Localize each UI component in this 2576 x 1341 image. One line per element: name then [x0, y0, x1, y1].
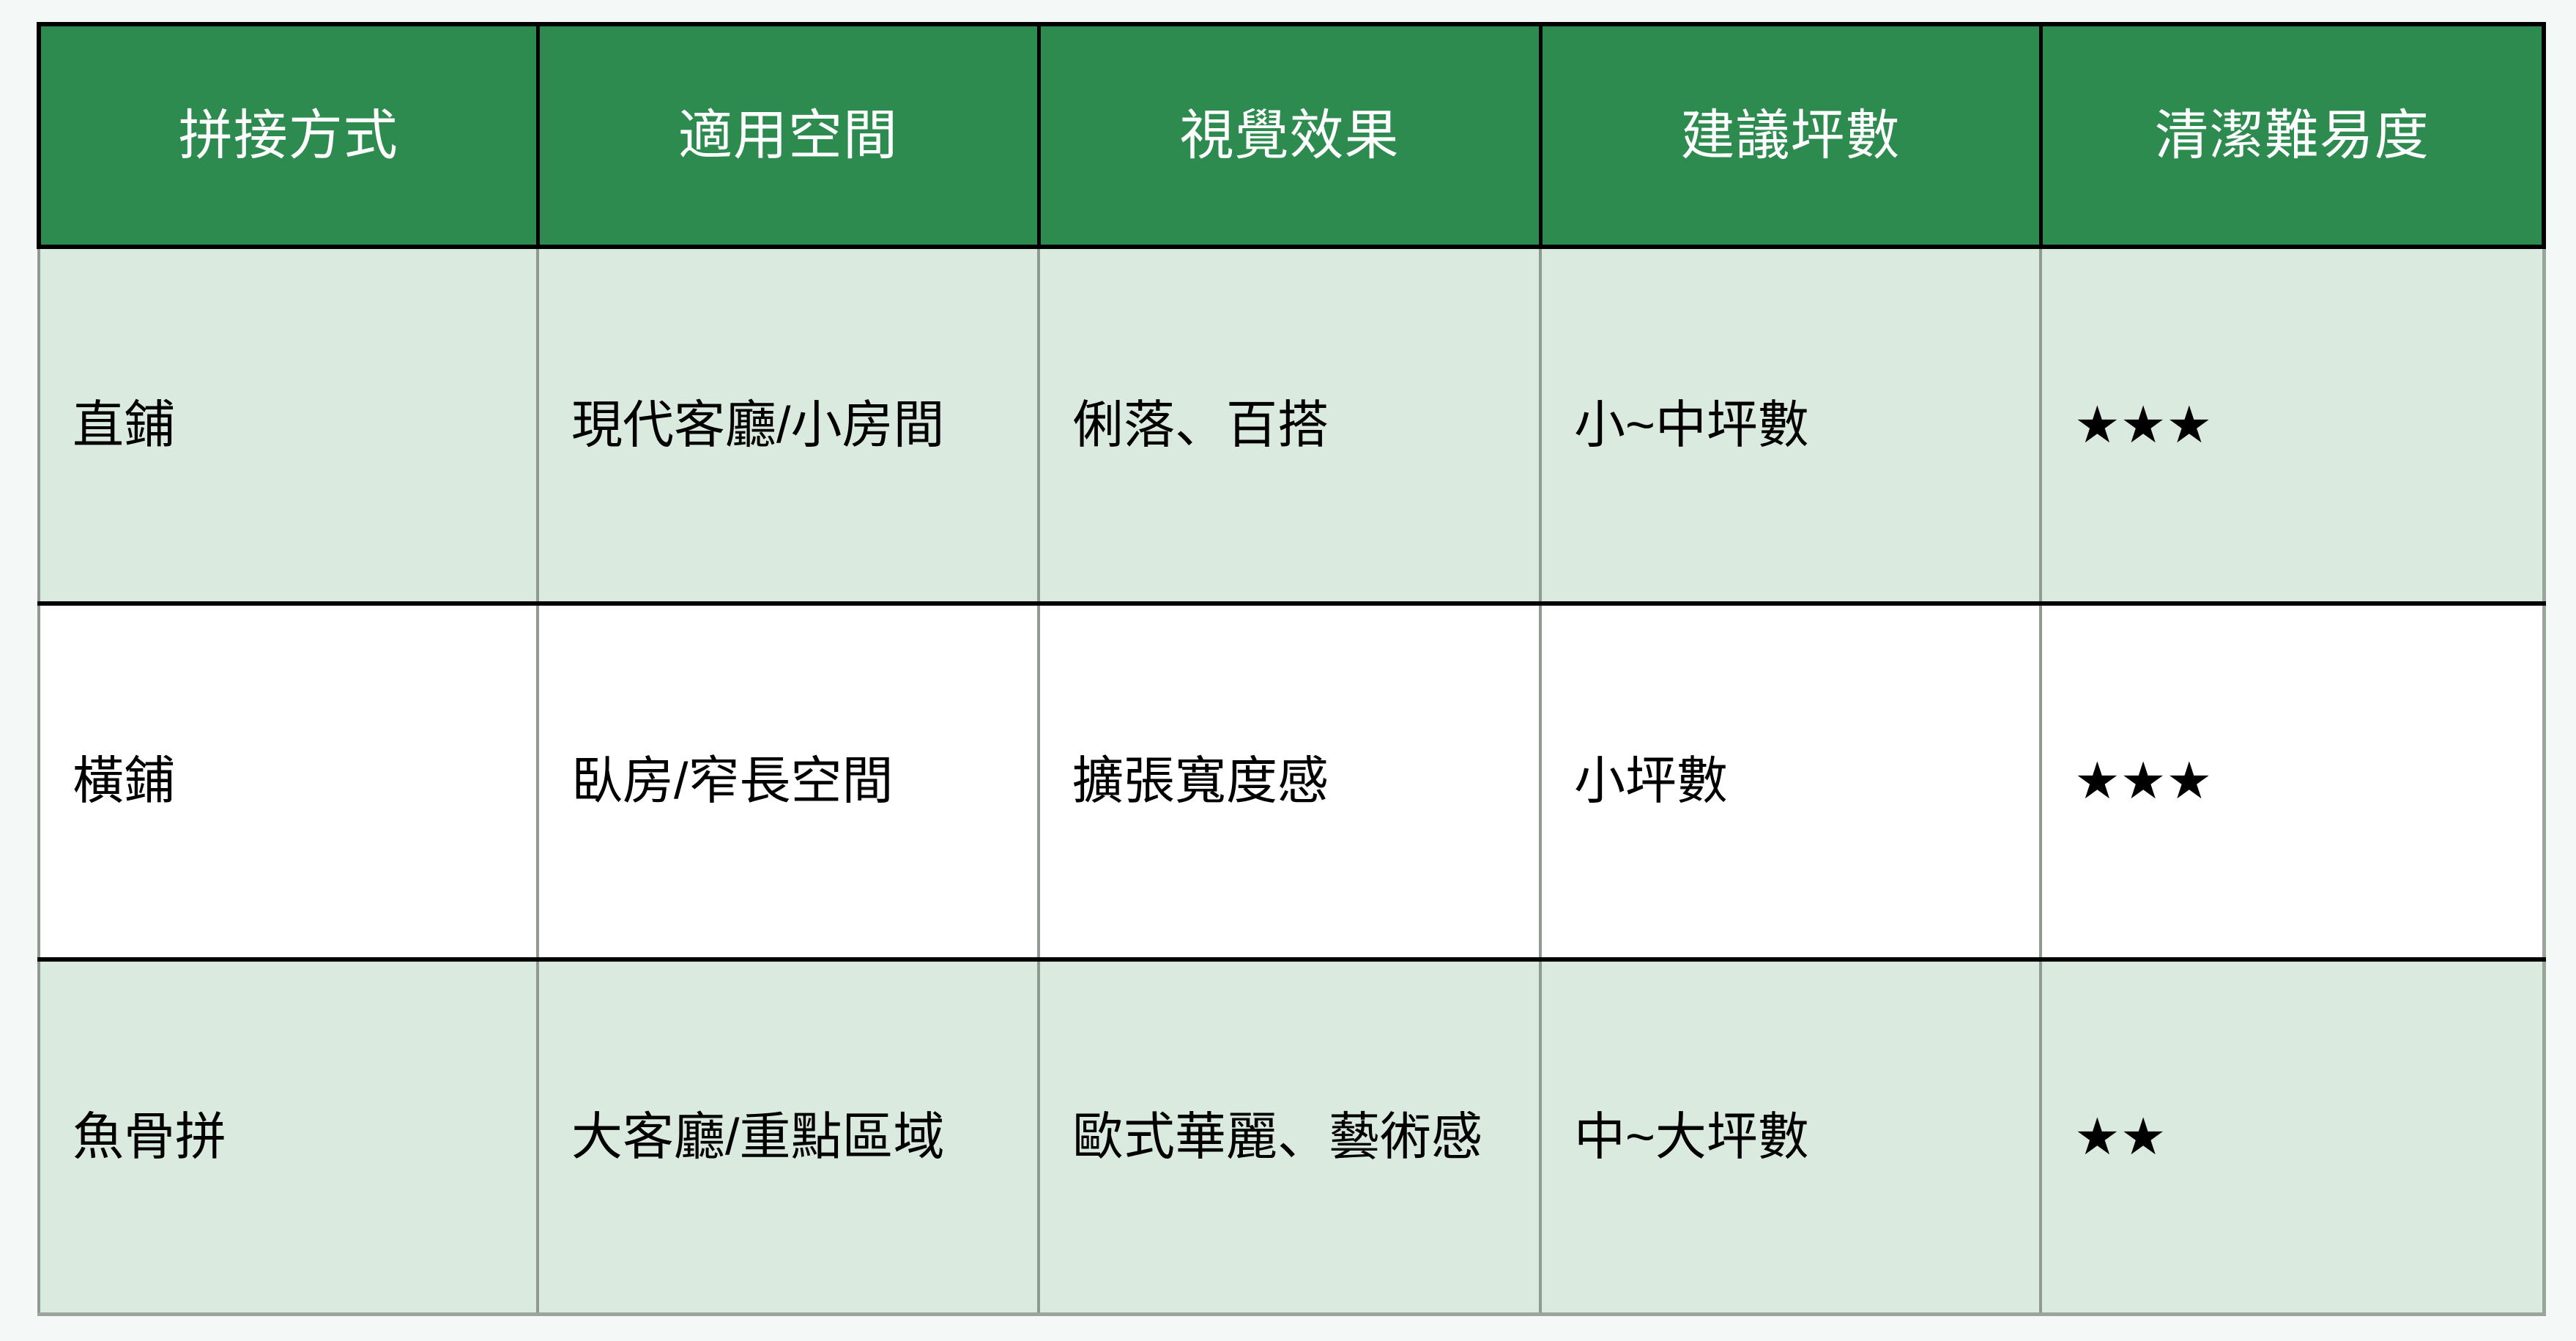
- cell-visual-text: 俐落、百搭: [1072, 392, 1507, 458]
- table-header-row: 拼接方式 適用空間 視覺效果 建議坪數 清潔難易度: [39, 24, 2544, 247]
- column-header-cleaning: 清潔難易度: [2041, 24, 2544, 247]
- star-rating-icon: ★★★: [2074, 396, 2212, 453]
- cell-area-text: 小~中坪數: [1574, 392, 2007, 458]
- cell-cleaning: ★★★: [2041, 603, 2544, 960]
- cell-cleaning: ★★★: [2041, 247, 2544, 603]
- cell-method-text: 魚骨拼: [73, 1104, 504, 1170]
- table-header: 拼接方式 適用空間 視覺效果 建議坪數 清潔難易度: [39, 24, 2544, 247]
- cell-method: 直鋪: [39, 247, 538, 603]
- cell-area-text: 中~大坪數: [1574, 1104, 2007, 1170]
- cell-space-text: 現代客廳/小房間: [571, 392, 1005, 458]
- cell-area-text: 小坪數: [1574, 748, 2007, 814]
- cell-cleaning: ★★: [2041, 959, 2544, 1314]
- column-header-visual: 視覺效果: [1039, 24, 1540, 247]
- table-row: 魚骨拼 大客廳/重點區域 歐式華麗、藝術感 中~大坪數 ★★: [39, 959, 2544, 1314]
- cell-visual-text: 歐式華麗、藝術感: [1072, 1104, 1507, 1170]
- table-body: 直鋪 現代客廳/小房間 俐落、百搭 小~中坪數 ★★★ 橫鋪 臥房/窄長空間 擴…: [39, 247, 2544, 1315]
- cell-area: 中~大坪數: [1540, 959, 2041, 1314]
- column-header-method: 拼接方式: [39, 24, 538, 247]
- table-row: 橫鋪 臥房/窄長空間 擴張寬度感 小坪數 ★★★: [39, 603, 2544, 960]
- cell-space-text: 臥房/窄長空間: [571, 748, 1005, 814]
- cell-area: 小~中坪數: [1540, 247, 2041, 603]
- cell-area: 小坪數: [1540, 603, 2041, 960]
- cell-method-text: 直鋪: [73, 392, 504, 458]
- cell-method-text: 橫鋪: [73, 748, 504, 814]
- column-header-area: 建議坪數: [1540, 24, 2041, 247]
- flooring-layout-comparison-table: 拼接方式 適用空間 視覺效果 建議坪數 清潔難易度 直鋪 現代客廳/小房間 俐落…: [37, 22, 2546, 1316]
- cell-visual: 歐式華麗、藝術感: [1039, 959, 1540, 1314]
- star-rating-icon: ★★★: [2074, 752, 2212, 809]
- comparison-table-container: 拼接方式 適用空間 視覺效果 建議坪數 清潔難易度 直鋪 現代客廳/小房間 俐落…: [37, 22, 2542, 1316]
- cell-visual: 俐落、百搭: [1039, 247, 1540, 603]
- cell-visual: 擴張寬度感: [1039, 603, 1540, 960]
- cell-space-text: 大客廳/重點區域: [571, 1104, 1005, 1170]
- cell-visual-text: 擴張寬度感: [1072, 748, 1507, 814]
- cell-space: 現代客廳/小房間: [538, 247, 1039, 603]
- cell-method: 橫鋪: [39, 603, 538, 960]
- cell-space: 大客廳/重點區域: [538, 959, 1039, 1314]
- column-header-space: 適用空間: [538, 24, 1039, 247]
- table-row: 直鋪 現代客廳/小房間 俐落、百搭 小~中坪數 ★★★: [39, 247, 2544, 603]
- cell-method: 魚骨拼: [39, 959, 538, 1314]
- star-rating-icon: ★★: [2074, 1108, 2167, 1165]
- cell-space: 臥房/窄長空間: [538, 603, 1039, 960]
- page-root: 拼接方式 適用空間 視覺效果 建議坪數 清潔難易度 直鋪 現代客廳/小房間 俐落…: [0, 0, 2576, 1341]
